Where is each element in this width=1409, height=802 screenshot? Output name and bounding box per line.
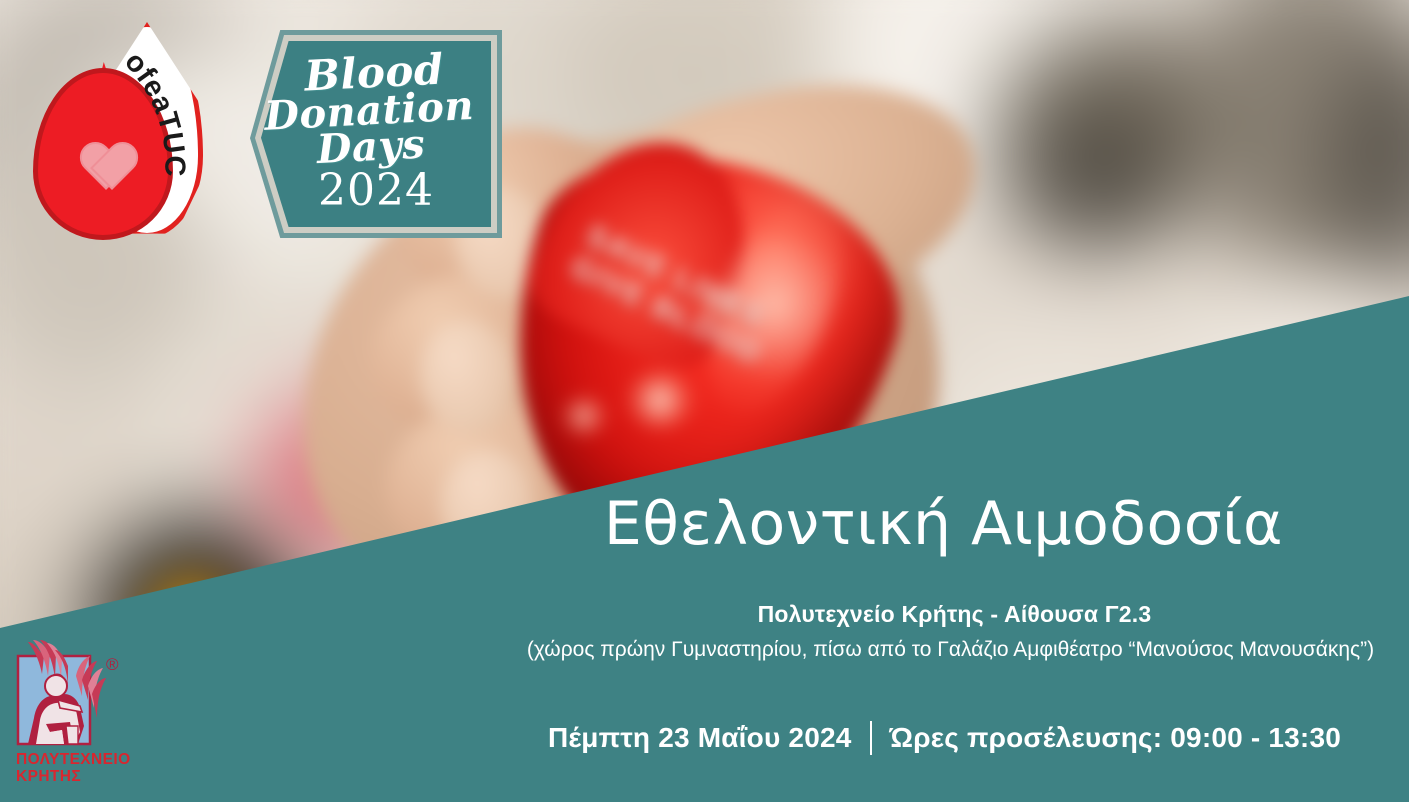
tuc-logo[interactable]: ® ΠΟΛΥΤΕΧΝΕΙΟ ΚΡΗΤΗΣ <box>6 640 156 798</box>
date-divider <box>870 721 872 755</box>
badge-script-text: Blood Donation Days <box>247 47 505 172</box>
registered-trademark-icon: ® <box>106 655 119 674</box>
venue-line: Πολυτεχνείο Κρήτης - Αίθουσα Γ2.3 <box>520 601 1389 628</box>
badge-line-donation-days: Donation Days <box>235 86 504 173</box>
date-time-bar: Πέμπτη 23 Μαΐου 2024 Ώρες προσέλευσης: 0… <box>520 721 1369 755</box>
winged-figure-icon: ® <box>6 640 156 755</box>
tuc-name-line2: ΚΡΗΤΗΣ <box>16 769 131 786</box>
blood-donation-days-badge: Blood Donation Days 2024 <box>250 30 502 238</box>
page-title: Εθελοντική Αιμοδοσία <box>520 489 1367 559</box>
poster-root: SAVE LIVES GIVE BLOOD ofeaTUC <box>0 0 1409 802</box>
badge-year: 2024 <box>250 165 502 216</box>
heart-icon <box>81 144 133 192</box>
tuc-name-line1: ΠΟΛΥΤΕΧΝΕΙΟ <box>16 752 131 769</box>
event-date: Πέμπτη 23 Μαΐου 2024 <box>548 722 852 754</box>
tuc-logo-text: ΠΟΛΥΤΕΧΝΕΙΟ ΚΡΗΤΗΣ <box>16 752 131 785</box>
ofeatuc-logo[interactable]: ofeaTUC <box>33 22 203 238</box>
venue-note: (χώρος πρώην Γυμναστηρίου, πίσω από το Γ… <box>500 638 1401 662</box>
event-hours: Ώρες προσέλευσης: 09:00 - 13:30 <box>890 722 1341 754</box>
